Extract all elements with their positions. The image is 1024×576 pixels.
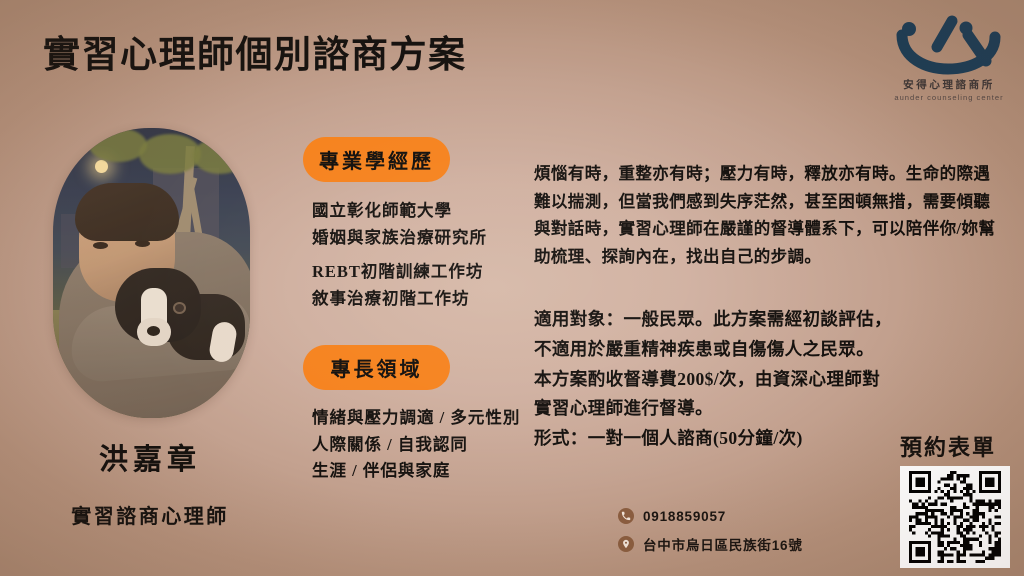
brand-logo: 安得心理諮商所 aunder counseling center [891, 13, 1007, 102]
contact-phone-number: 0918859057 [643, 509, 726, 524]
contact-address-row[interactable]: 台中市烏日區民族街16號 [618, 534, 803, 554]
credentials-badge: 專業學經歷 [303, 137, 450, 182]
photo-foliage [193, 138, 247, 174]
qr-code-icon [905, 471, 1005, 563]
detail-line: 實習心理師進行督導。 [534, 394, 964, 424]
profile-role: 實習諮商心理師 [0, 500, 300, 529]
contact-address-text: 台中市烏日區民族街16號 [643, 534, 803, 554]
photo-dog-eye [173, 302, 186, 314]
credentials-list: 國立彰化師範大學 婚姻與家族治療研究所 REBT初階訓練工作坊 敘事治療初階工作… [312, 198, 487, 313]
logo-name-zh: 安得心理諮商所 [891, 77, 1007, 92]
credential-line: REBT初階訓練工作坊 [312, 259, 487, 286]
photo-image [53, 128, 250, 418]
credential-group: REBT初階訓練工作坊 敘事治療初階工作坊 [312, 259, 487, 312]
booking-form-label: 預約表單 [886, 430, 1010, 462]
contact-block: 0918859057 台中市烏日區民族街16號 [618, 508, 803, 554]
logo-name-en: aunder counseling center [891, 93, 1007, 102]
location-pin-icon [618, 536, 634, 552]
photo-dog-nose [147, 326, 160, 336]
profile-name: 洪嘉章 [0, 436, 300, 478]
specialty-list: 情緒與壓力調適 / 多元性別 人際關係 / 自我認同 生涯 / 伴侶與家庭 [312, 405, 520, 485]
photo-eye [135, 240, 150, 247]
specialty-line: 人際關係 / 自我認同 [312, 432, 520, 459]
photo-eye [93, 242, 108, 249]
phone-icon [618, 508, 634, 524]
photo-dog-head [115, 268, 201, 342]
poster-canvas: 實習心理師個別諮商方案 安得心理諮商所 aunder counseling ce… [0, 0, 1024, 576]
page-title: 實習心理師個別諮商方案 [43, 36, 467, 77]
detail-line: 適用對象：一般民眾。此方案需經初談評估， [534, 305, 964, 335]
specialty-line: 情緒與壓力調適 / 多元性別 [312, 405, 520, 432]
credential-line: 國立彰化師範大學 [312, 198, 487, 225]
booking-qr-code[interactable] [900, 466, 1010, 568]
detail-line: 不適用於嚴重精神疾患或自傷傷人之民眾。 [534, 335, 964, 365]
credential-line: 敘事治療初階工作坊 [312, 286, 487, 313]
credential-group: 國立彰化師範大學 婚姻與家族治療研究所 [312, 198, 487, 251]
photo-dog [115, 260, 243, 370]
credential-line: 婚姻與家族治療研究所 [312, 225, 487, 252]
detail-line: 本方案酌收督導費200$/次，由資深心理師對 [534, 365, 964, 395]
specialty-line: 生涯 / 伴侶與家庭 [312, 458, 520, 485]
heart-mind-logo-icon [896, 13, 1002, 75]
photo-foliage [139, 134, 201, 174]
specialty-badge: 專長領域 [303, 345, 450, 390]
intro-paragraph: 煩惱有時，重整亦有時；壓力有時，釋放亦有時。生命的際遇難以揣測，但當我們感到失序… [534, 160, 996, 271]
photo-foliage [89, 128, 147, 162]
photo-streetlamp [95, 160, 108, 173]
contact-phone-row[interactable]: 0918859057 [618, 508, 803, 524]
photo-person-hair [75, 183, 179, 241]
profile-photo [53, 128, 250, 418]
